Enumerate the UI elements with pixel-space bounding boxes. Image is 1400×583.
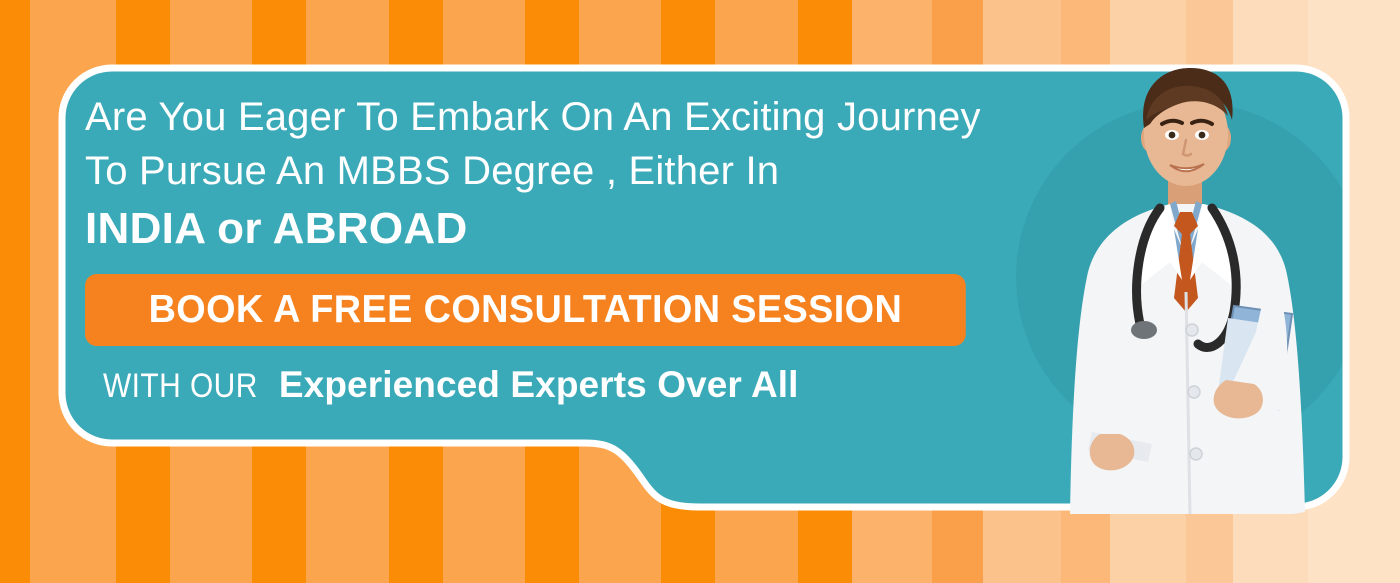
tagline-bold: Experienced Experts Over All bbox=[279, 364, 799, 405]
tagline: WITH OUR Experienced Experts Over All bbox=[103, 364, 1045, 406]
book-consultation-button[interactable]: BOOK A FREE CONSULTATION SESSION bbox=[85, 274, 966, 346]
card-content: Are You Eager To Embark On An Exciting J… bbox=[85, 90, 1045, 406]
promo-banner: Are You Eager To Embark On An Exciting J… bbox=[0, 0, 1400, 583]
tagline-prefix: WITH OUR bbox=[103, 367, 258, 406]
background-stripe-0 bbox=[0, 0, 30, 583]
headline-line-3: INDIA or ABROAD bbox=[85, 200, 1045, 258]
headline-line-2: To Pursue An MBBS Degree , Either In bbox=[85, 144, 1045, 198]
decorative-circle bbox=[1016, 102, 1352, 452]
headline-line-1: Are You Eager To Embark On An Exciting J… bbox=[85, 90, 1045, 144]
